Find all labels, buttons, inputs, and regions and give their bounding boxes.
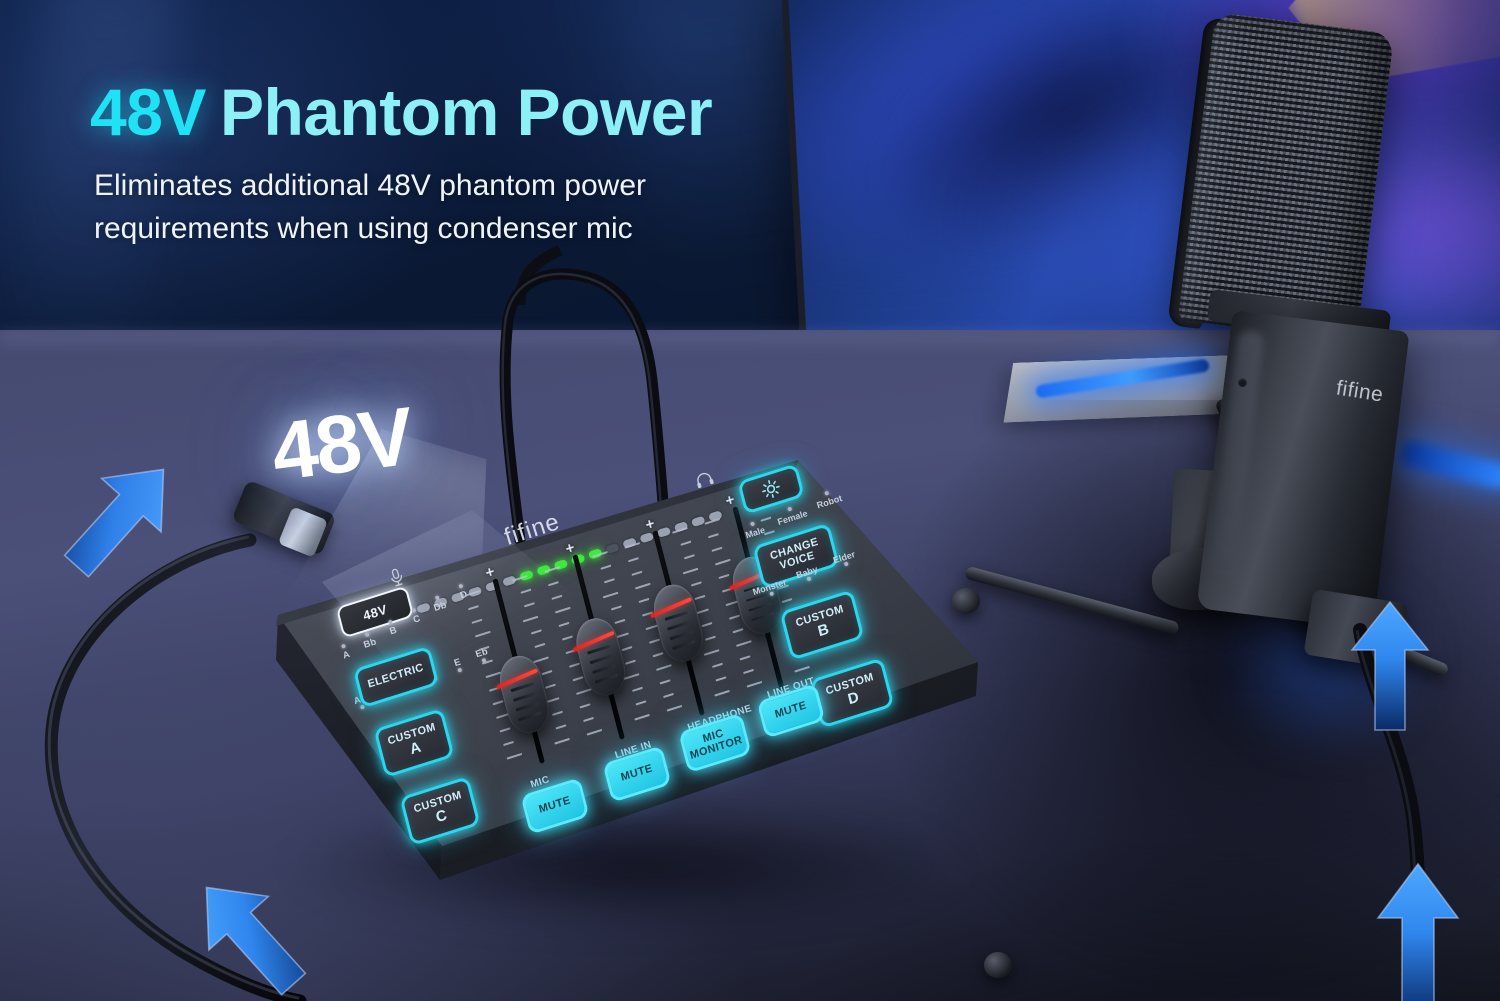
headline-highlight: 48V <box>90 75 206 149</box>
arrow-cable-upper-left <box>47 443 193 593</box>
headline-rest: Phantom Power <box>220 75 712 149</box>
product-marketing-banner: 48V fifine <box>0 0 1500 1001</box>
annotation-arrows <box>0 0 1500 1001</box>
subheadline-line-2: requirements when using condenser mic <box>94 208 646 251</box>
subheadline: Eliminates additional 48V phantom power … <box>94 165 646 250</box>
headline: 48VPhantom Power <box>90 74 712 150</box>
subheadline-line-1: Eliminates additional 48V phantom power <box>94 165 646 208</box>
arrow-mic-cable-bottom <box>1378 864 1458 1001</box>
arrow-mic-connector <box>1352 602 1428 730</box>
arrow-cable-lower-left <box>177 861 323 1001</box>
